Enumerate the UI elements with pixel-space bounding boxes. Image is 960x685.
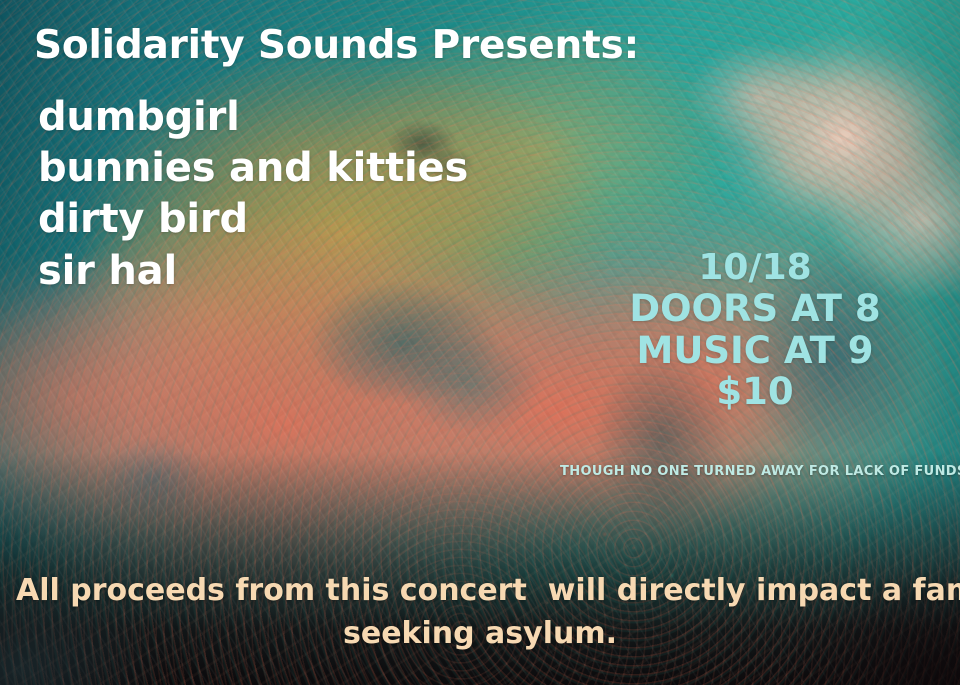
proceeds-line-2: seeking asylum. [16, 613, 944, 656]
lineup-item-2: bunnies and kitties [38, 143, 468, 194]
event-date: 10/18 [560, 248, 950, 288]
poster-content: Solidarity Sounds Presents: dumbgirl bun… [0, 0, 960, 685]
lineup-list: dumbgirl bunnies and kitties dirty bird … [38, 92, 468, 297]
proceeds-statement: All proceeds from this concert will dire… [0, 570, 960, 655]
presenter-headline: Solidarity Sounds Presents: [34, 26, 639, 65]
proceeds-line-1: All proceeds from this concert will dire… [16, 570, 944, 613]
concert-poster: Solidarity Sounds Presents: dumbgirl bun… [0, 0, 960, 685]
sliding-scale-note: THOUGH NO ONE TURNED AWAY FOR LACK OF FU… [560, 464, 950, 479]
ticket-price: $10 [560, 371, 950, 412]
lineup-item-4: sir hal [38, 246, 468, 297]
lineup-item-1: dumbgirl [38, 92, 468, 143]
event-details: 10/18 DOORS AT 8 MUSIC AT 9 $10 [560, 248, 950, 413]
lineup-item-3: dirty bird [38, 194, 468, 245]
doors-time: DOORS AT 8 [560, 288, 950, 329]
music-time: MUSIC AT 9 [560, 330, 950, 371]
